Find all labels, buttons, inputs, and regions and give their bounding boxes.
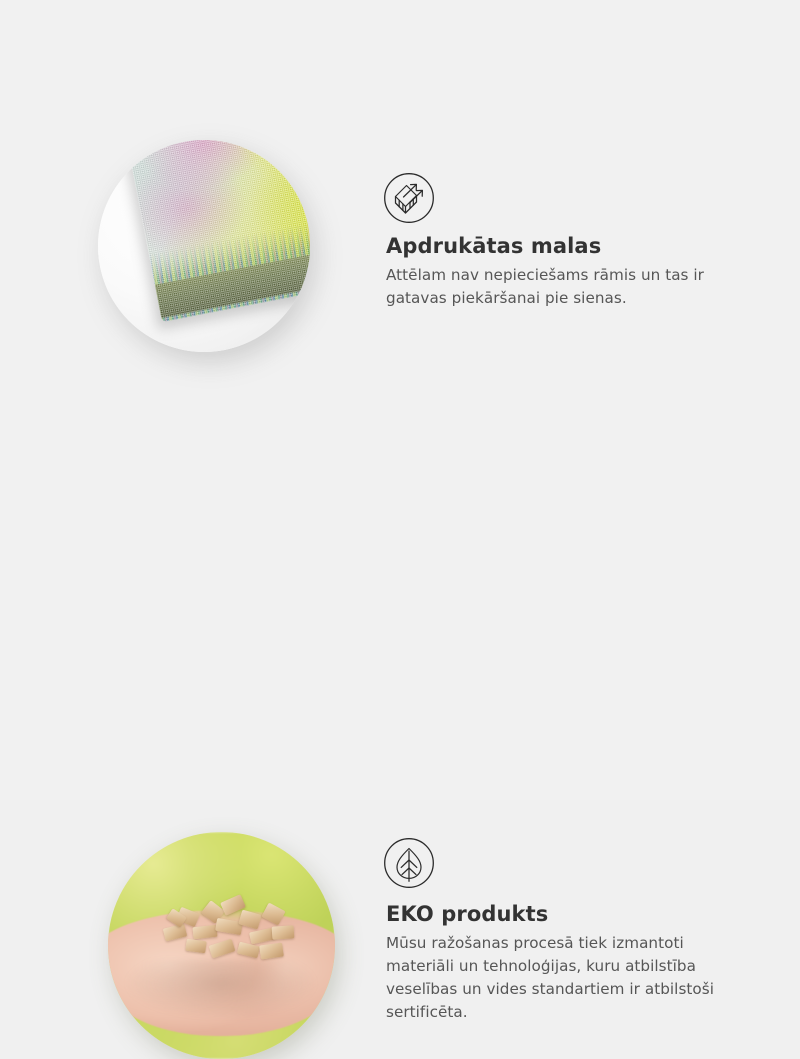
eco-product-text-block: EKO produkts Mūsu ražošanas procesā tiek… [386, 902, 746, 1025]
feature-panel: Apdrukātas malas Attēlam nav nepieciešam… [0, 0, 800, 800]
wood-chips-in-hands-photo [108, 832, 335, 1059]
printed-canvas-edges-icon [383, 172, 435, 224]
feature-title-eco-product: EKO produkts [386, 902, 746, 927]
canvas-print-photo [98, 140, 310, 352]
feature-description-printed-edges: Attēlam nav nepieciešams rāmis un tas ir… [386, 264, 746, 310]
hands-shadow [126, 960, 316, 1018]
feature-title-printed-edges: Apdrukātas malas [386, 234, 746, 259]
printed-edges-text-block: Apdrukātas malas Attēlam nav nepieciešam… [386, 234, 746, 310]
feature-printed-edges: Apdrukātas malas Attēlam nav nepieciešam… [0, 0, 800, 400]
feature-eco-product: EKO produkts Mūsu ražošanas procesā tiek… [0, 400, 800, 800]
wood-chips-pile [160, 896, 300, 968]
feature-description-eco-product: Mūsu ražošanas procesā tiek izmantoti ma… [386, 932, 746, 1024]
leaf-icon [383, 837, 435, 889]
